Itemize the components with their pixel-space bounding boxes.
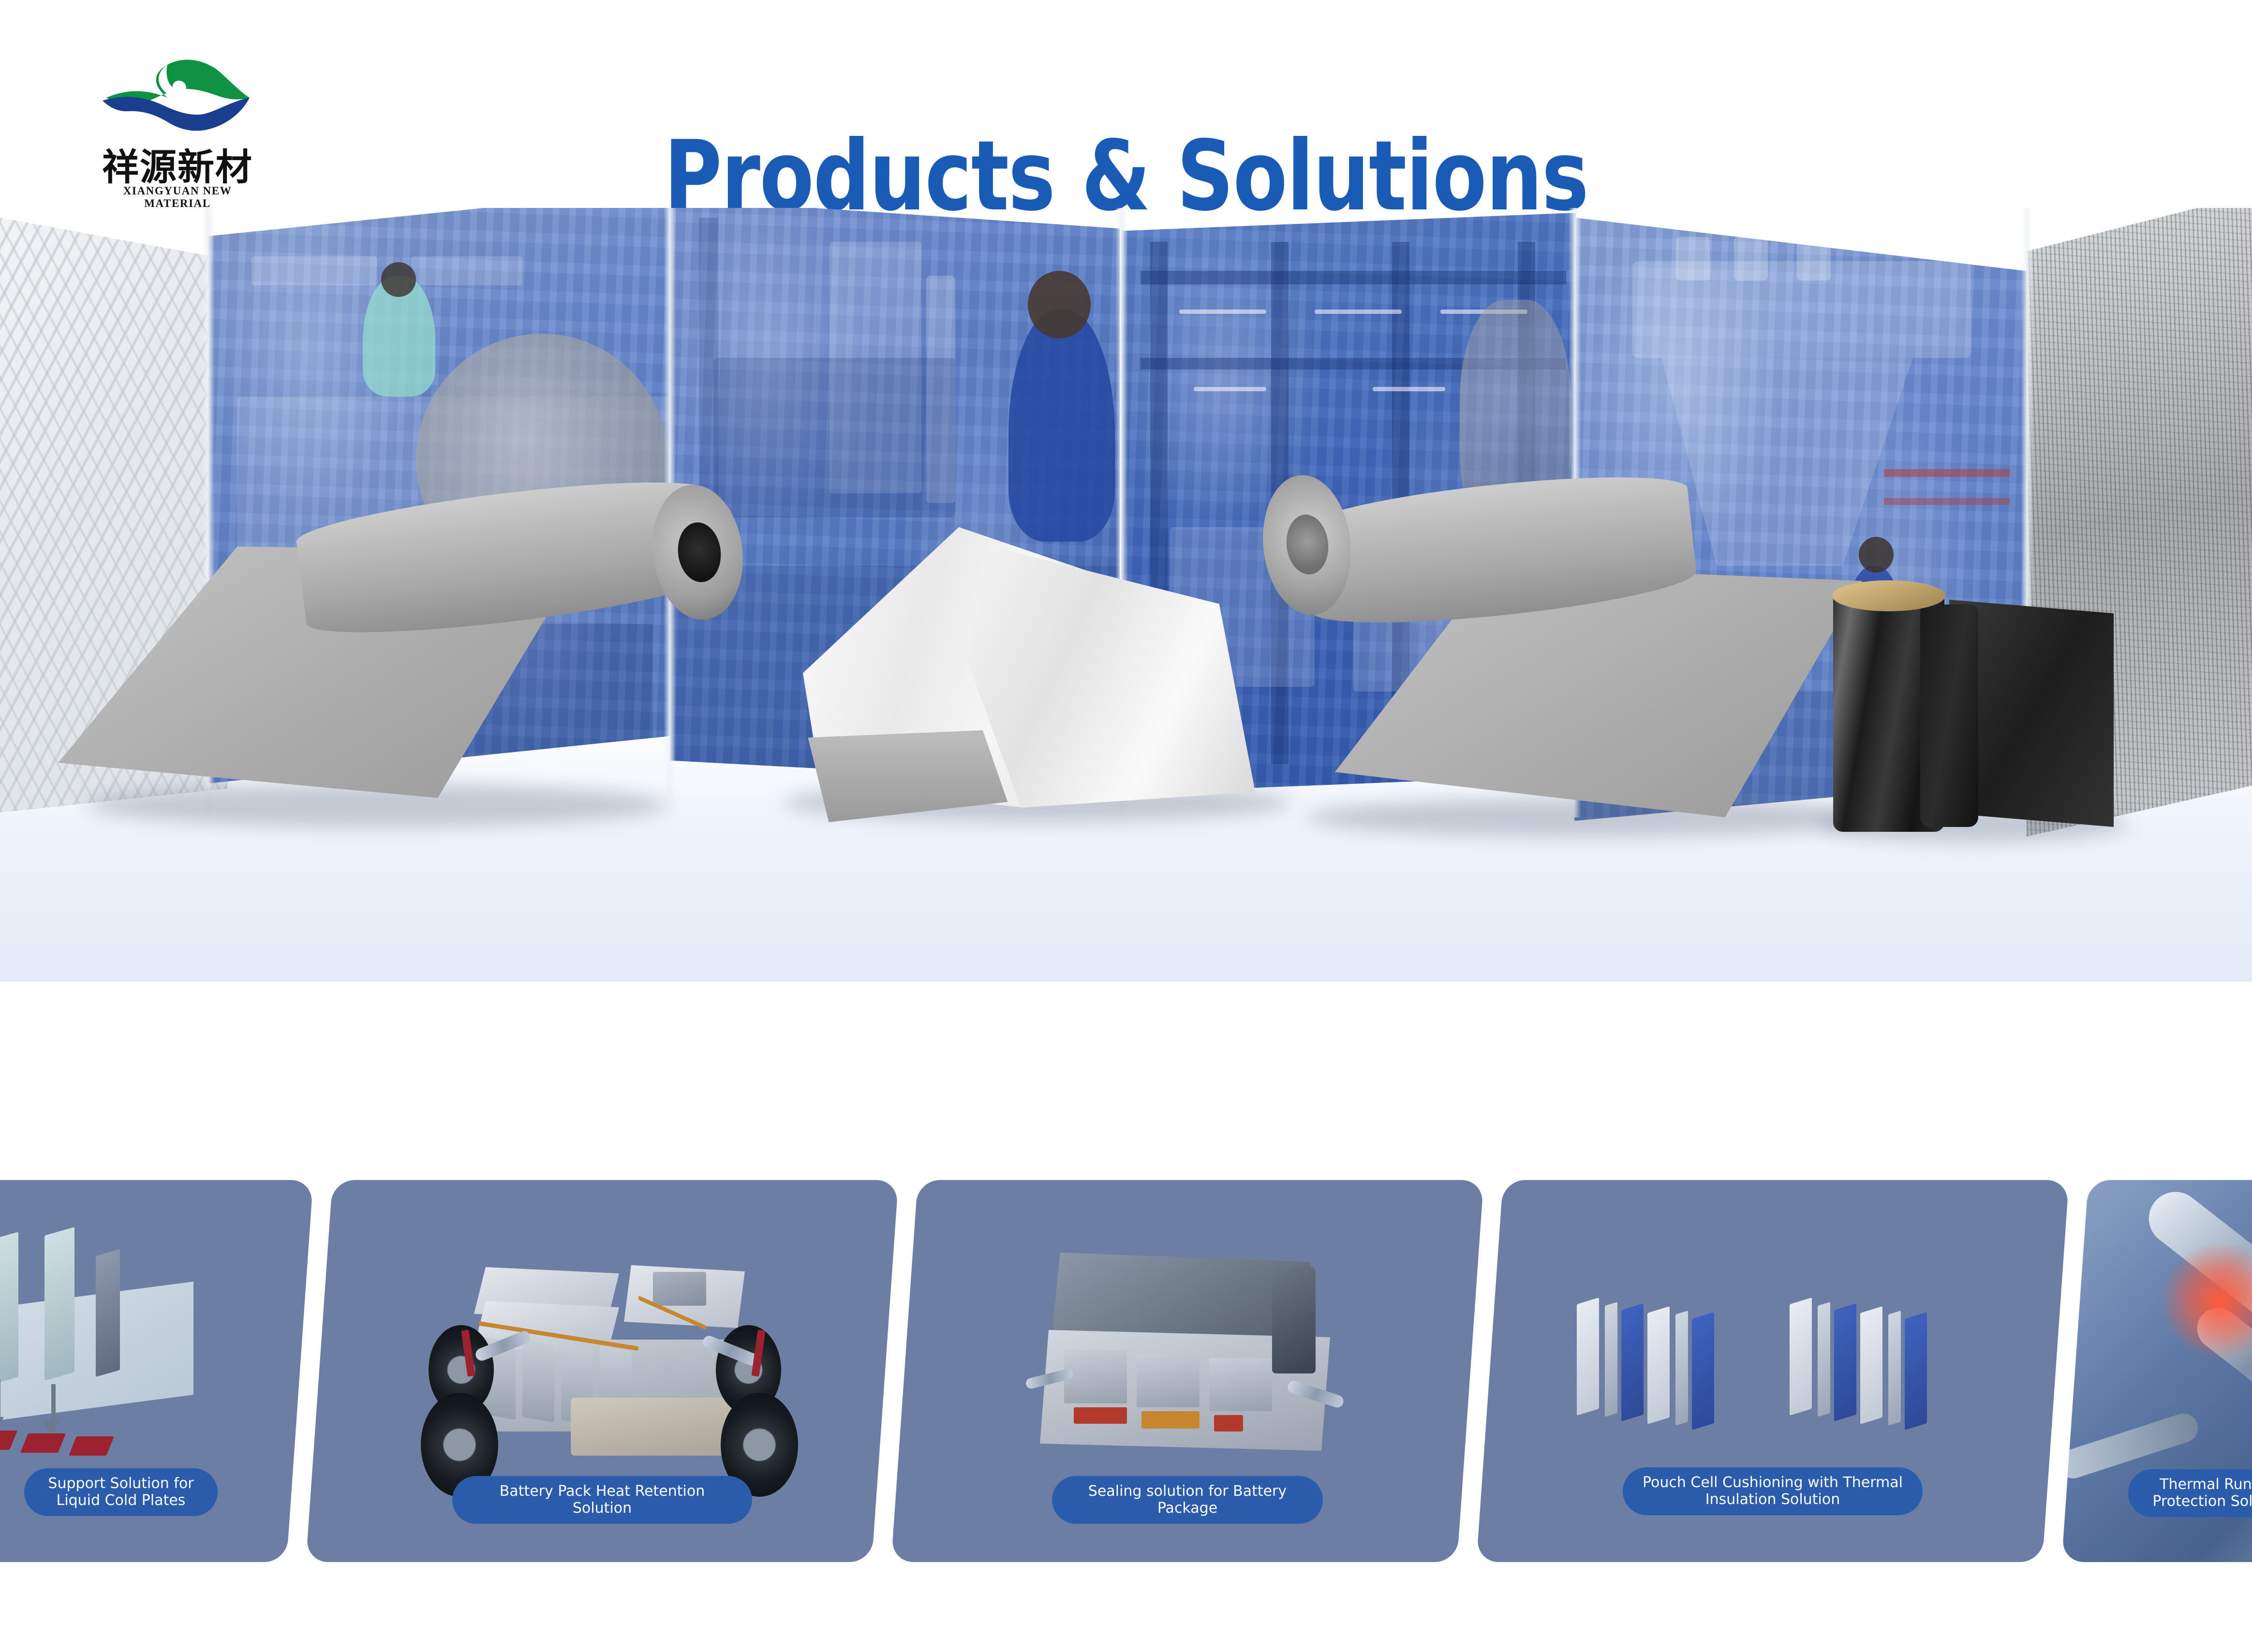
solution-label-thermal-runaway-protection[interactable]: Thermal Runaway Protection Solutions	[2128, 1469, 2252, 1517]
solution-card-pouch-cell-cushioning[interactable]: Pouch Cell Cushioning with Thermal Insul…	[1476, 1180, 2069, 1562]
solution-card-thermal-runaway-protection[interactable]: Thermal Runaway Protection Solutions	[2061, 1180, 2252, 1562]
solution-card-liquid-cold-plates[interactable]: Support Solution for Liquid Cold Plates	[0, 1180, 313, 1562]
solution-card-battery-pack-heat-retention[interactable]: Battery Pack Heat Retention Solution	[306, 1180, 898, 1562]
solution-card-battery-package-sealing[interactable]: Sealing solution for Battery Package	[891, 1180, 1483, 1562]
solutions-row: Support Solution for Liquid Cold Plates	[0, 1180, 2252, 1562]
solution-label-pouch-cell-cushioning[interactable]: Pouch Cell Cushioning with Thermal Insul…	[1623, 1467, 1923, 1515]
solution-label-battery-pack-heat-retention[interactable]: Battery Pack Heat Retention Solution	[452, 1476, 752, 1524]
solution-label-liquid-cold-plates[interactable]: Support Solution for Liquid Cold Plates	[24, 1468, 218, 1516]
hero-section: Polyolefin Foam Thermal runaway material…	[0, 208, 2252, 982]
solution-label-battery-package-sealing[interactable]: Sealing solution for Battery Package	[1052, 1476, 1323, 1524]
slide-root: 祥源新材 XIANGYUAN NEW MATERIAL Products & S…	[0, 0, 2252, 1652]
